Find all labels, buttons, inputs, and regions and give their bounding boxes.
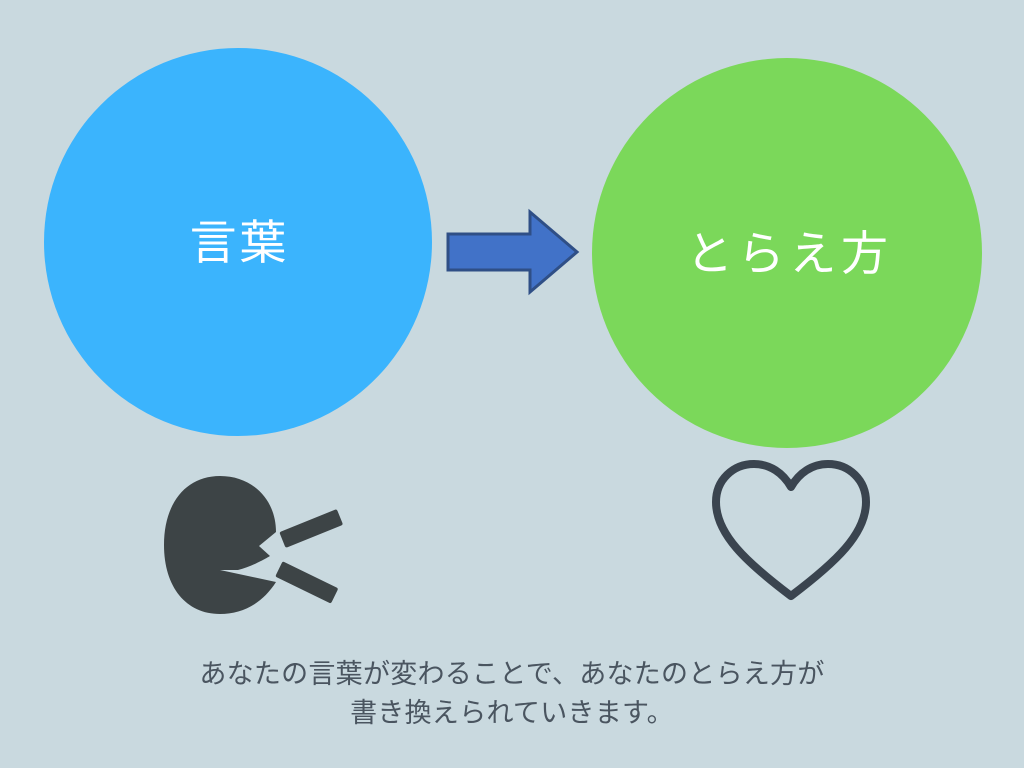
node-circle-perception[interactable]: とらえ方	[592, 58, 982, 448]
speech-line-lower	[275, 561, 338, 603]
node-circle-words[interactable]: 言葉	[44, 48, 432, 436]
arrow-right-icon	[446, 206, 580, 298]
heart-outline-shape	[716, 464, 866, 596]
caption-line-2: 書き換えられていきます。	[0, 694, 1024, 733]
speaking-mouth-shape	[164, 476, 276, 614]
node-label-perception: とらえ方	[681, 230, 893, 277]
caption-text: あなたの言葉が変わることで、あなたのとらえ方が 書き換えられていきます。	[0, 655, 1024, 733]
caption-line-1: あなたの言葉が変わることで、あなたのとらえ方が	[0, 655, 1024, 694]
heart-outline-icon	[706, 456, 876, 606]
speaking-mouth-icon	[158, 470, 348, 620]
node-label-words: 言葉	[187, 219, 289, 266]
speech-line-upper	[279, 509, 343, 548]
arrow-right-shape	[448, 212, 577, 292]
slide-canvas: 言葉 とらえ方 あなたの言葉が変わることで、あなたのとらえ方が 書き換えられてい…	[0, 0, 1024, 768]
